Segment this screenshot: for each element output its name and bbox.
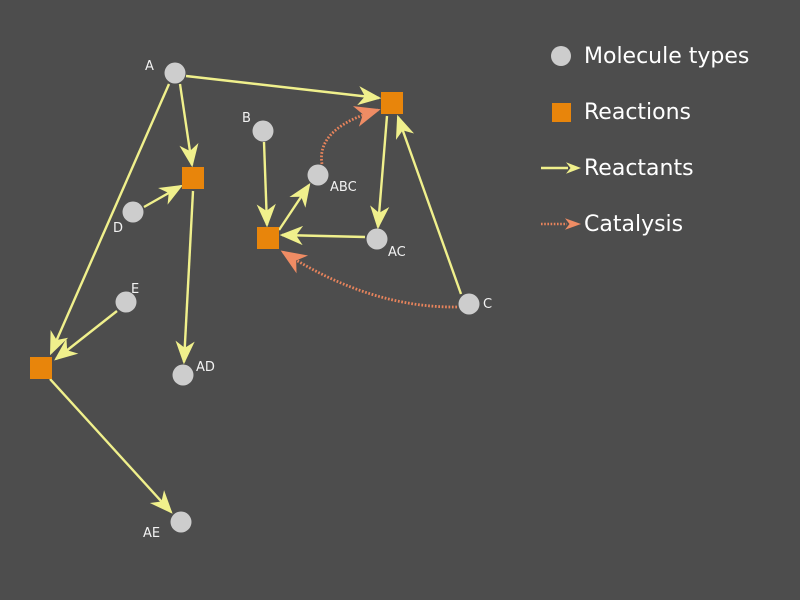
reactant-edge (378, 116, 387, 227)
reaction-node[interactable] (182, 167, 204, 189)
reactant-edge (51, 84, 169, 353)
reaction-node[interactable] (381, 92, 403, 114)
molecule-node[interactable] (171, 512, 192, 533)
reactant-edge (279, 185, 309, 230)
diagram-canvas: ABCDEABCACADAE Molecule types Reactions … (0, 0, 800, 600)
reactant-edge (398, 117, 461, 294)
molecule-node[interactable] (253, 121, 274, 142)
molecule-node-group (116, 63, 480, 533)
reaction-node[interactable] (257, 227, 279, 249)
legend-item-reactions: Reactions (540, 84, 790, 140)
reactant-edge (144, 186, 181, 207)
catalysis-edge (321, 110, 378, 164)
legend-label-reactions: Reactions (584, 100, 691, 125)
reactant-edge (282, 235, 365, 237)
legend-label-catalysis: Catalysis (584, 212, 683, 237)
reactant-edge (180, 84, 192, 165)
square-icon (540, 103, 582, 122)
catalysis-edge (283, 252, 457, 307)
circle-icon (540, 46, 582, 66)
molecule-node[interactable] (459, 294, 480, 315)
legend-label-molecule-types: Molecule types (584, 44, 749, 69)
dotted-arrow-icon (540, 216, 582, 232)
molecule-node[interactable] (173, 365, 194, 386)
reactant-edge (50, 379, 171, 512)
reaction-node[interactable] (30, 357, 52, 379)
molecule-node[interactable] (123, 202, 144, 223)
legend-item-catalysis: Catalysis (540, 196, 790, 252)
reactant-edge-group (50, 76, 461, 512)
legend: Molecule types Reactions Reactants (540, 28, 790, 252)
arrow-icon (540, 160, 582, 176)
reactant-edge (186, 76, 379, 98)
reactant-edge (264, 142, 267, 225)
molecule-node[interactable] (367, 229, 388, 250)
reactant-edge (184, 191, 193, 362)
legend-label-reactants: Reactants (584, 156, 694, 181)
molecule-node[interactable] (116, 292, 137, 313)
molecule-node[interactable] (165, 63, 186, 84)
legend-item-reactants: Reactants (540, 140, 790, 196)
molecule-node[interactable] (308, 165, 329, 186)
legend-item-molecule-types: Molecule types (540, 28, 790, 84)
